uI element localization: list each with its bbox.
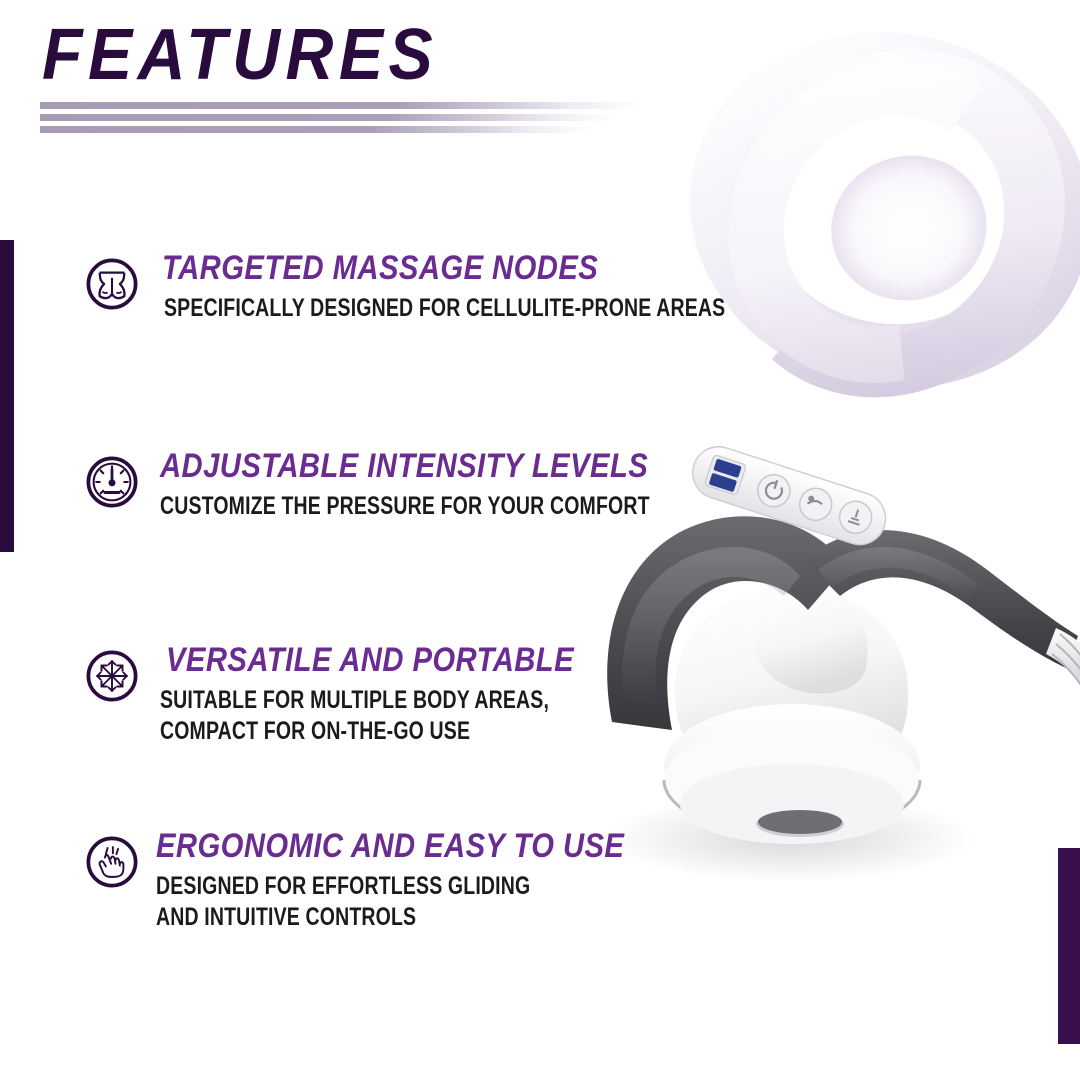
feature-item-targeted-massage-nodes: TARGETED MASSAGE NODES SPECIFICALLY DESI…	[84, 250, 884, 324]
feature-item-adjustable-intensity-levels: ADJUSTABLE INTENSITY LEVELS CUSTOMIZE TH…	[84, 448, 788, 522]
feature-subtitle-line: COMPACT FOR ON-THE-GO USE	[160, 716, 549, 748]
rule-line-1	[40, 102, 660, 109]
feature-item-ergonomic-and-easy-to-use: ERGONOMIC AND EASY TO USE DESIGNED FOR E…	[84, 828, 701, 934]
gauge-icon	[84, 454, 140, 510]
torus-knot-decoration	[680, 0, 1080, 440]
feature-subtitle-line: DESIGNED FOR EFFORTLESS GLIDING	[156, 871, 581, 903]
feature-heading: ADJUSTABLE INTENSITY LEVELS	[160, 448, 700, 485]
snapping-hand-icon	[84, 834, 140, 890]
feature-heading: VERSATILE AND PORTABLE	[166, 642, 590, 679]
feature-subtitle: CUSTOMIZE THE PRESSURE FOR YOUR COMFORT	[160, 491, 650, 523]
multi-direction-arrows-icon	[84, 648, 140, 704]
rule-line-3	[40, 126, 610, 133]
feature-subtitle: DESIGNED FOR EFFORTLESS GLIDING AND INTU…	[156, 871, 581, 934]
right-accent-bar	[1058, 848, 1080, 1044]
buttocks-body-icon	[84, 256, 140, 312]
feature-subtitle-line: SUITABLE FOR MULTIPLE BODY AREAS,	[160, 685, 549, 717]
left-accent-bar	[0, 240, 14, 552]
feature-subtitle: SPECIFICALLY DESIGNED FOR CELLULITE-PRON…	[164, 293, 725, 325]
feature-texts: VERSATILE AND PORTABLE SUITABLE FOR MULT…	[160, 642, 659, 748]
feature-texts: TARGETED MASSAGE NODES SPECIFICALLY DESI…	[162, 250, 884, 324]
feature-texts: ERGONOMIC AND EASY TO USE DESIGNED FOR E…	[156, 828, 701, 934]
title-underline-rules	[40, 102, 660, 138]
feature-heading: ERGONOMIC AND EASY TO USE	[156, 828, 624, 865]
feature-subtitle-line: CUSTOMIZE THE PRESSURE FOR YOUR COMFORT	[160, 491, 650, 523]
feature-subtitle: SUITABLE FOR MULTIPLE BODY AREAS, COMPAC…	[160, 685, 549, 748]
rule-line-2	[40, 114, 635, 121]
feature-texts: ADJUSTABLE INTENSITY LEVELS CUSTOMIZE TH…	[160, 448, 788, 522]
feature-heading: TARGETED MASSAGE NODES	[162, 250, 783, 287]
feature-subtitle-line: SPECIFICALLY DESIGNED FOR CELLULITE-PRON…	[164, 293, 725, 325]
feature-item-versatile-and-portable: VERSATILE AND PORTABLE SUITABLE FOR MULT…	[84, 642, 659, 748]
page-title: FEATURES	[42, 14, 438, 96]
feature-subtitle-line: AND INTUITIVE CONTROLS	[156, 902, 581, 934]
features-infographic: FEATURES	[0, 0, 1080, 1080]
